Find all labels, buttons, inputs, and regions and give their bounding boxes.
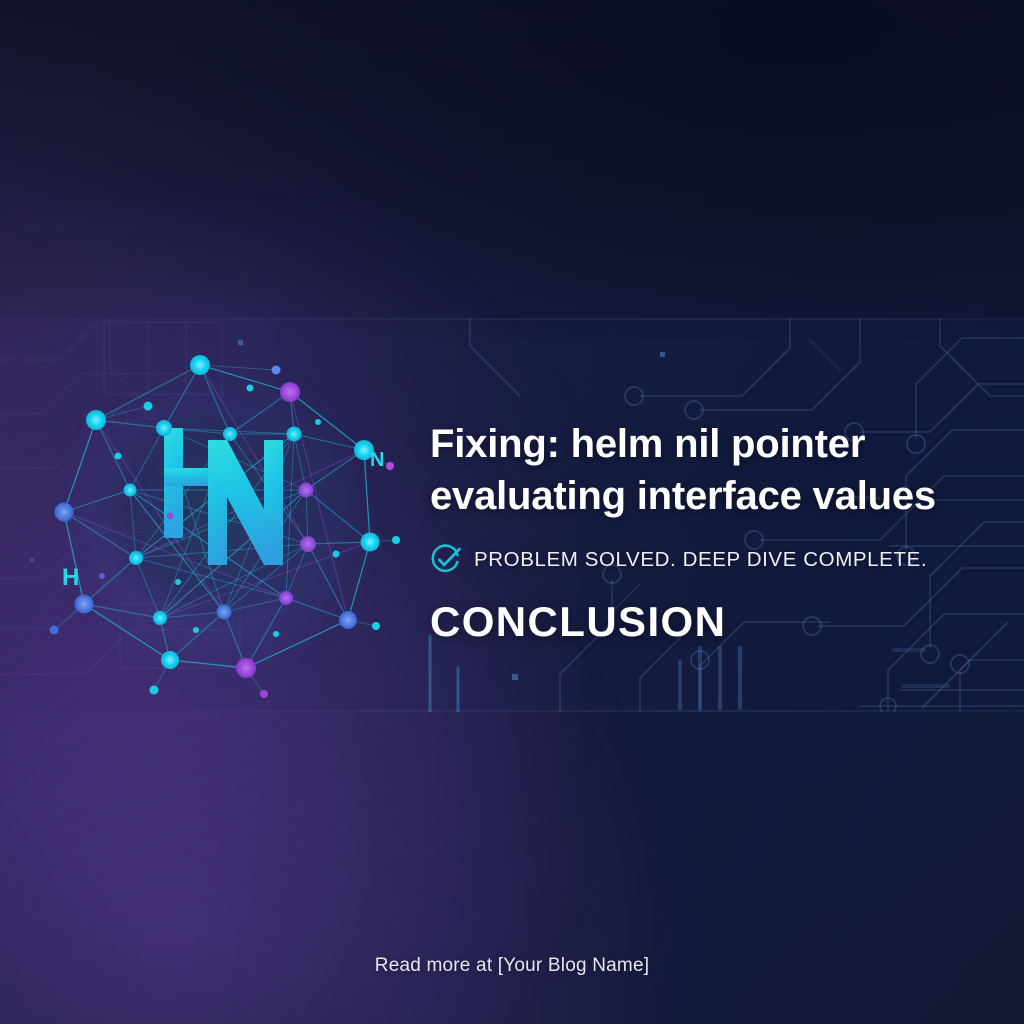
section-kicker: CONCLUSION — [430, 598, 990, 646]
status-row: PROBLEM SOLVED. DEEP DIVE COMPLETE. — [430, 544, 990, 575]
footer-attribution: Read more at [Your Blog Name] — [0, 955, 1024, 977]
content-block: Fixing: helm nil pointer evaluating inte… — [430, 418, 990, 646]
page-title-line-2: evaluating interface values — [430, 470, 990, 522]
page-title-line-1: Fixing: helm nil pointer — [430, 418, 990, 470]
social-share-card: N H Fixing: helm nil pointer evaluating … — [0, 0, 1024, 1024]
page-title: Fixing: helm nil pointer evaluating inte… — [430, 418, 990, 522]
logo-glow — [58, 370, 378, 670]
status-text: PROBLEM SOLVED. DEEP DIVE COMPLETE. — [474, 548, 927, 572]
network-logo: N H — [18, 330, 418, 710]
check-circle-icon — [430, 544, 461, 575]
